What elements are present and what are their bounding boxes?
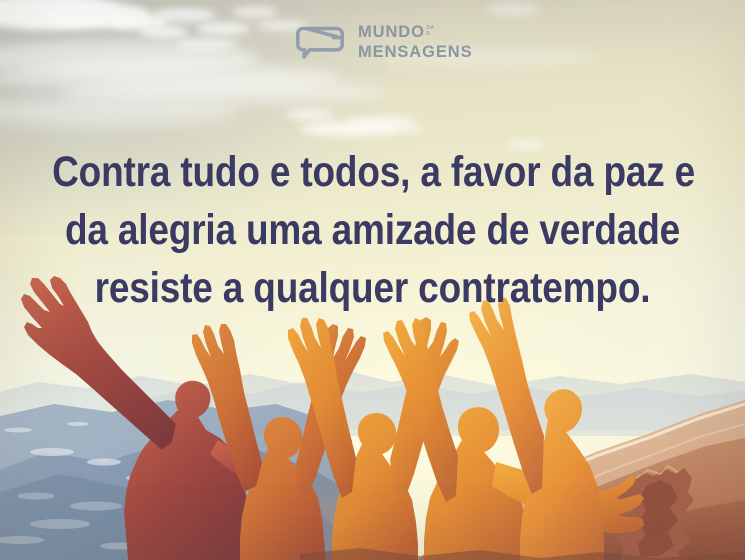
quote-line-3: resiste a qualquer contratempo. <box>52 259 693 317</box>
logo-line-1: MUNDO <box>358 24 425 41</box>
quote-image-card: MUNDO DA S MENSAGENS Contra tudo e todos… <box>0 0 745 560</box>
quote-text: Contra tudo e todos, a favor da paz e da… <box>52 143 693 317</box>
logo-superscript-bottom: S <box>426 32 434 38</box>
brand-logo[interactable]: MUNDO DA S MENSAGENS <box>293 24 473 60</box>
logo-superscript: DA S <box>426 26 434 38</box>
quote-line-1: Contra tudo e todos, a favor da paz e <box>52 143 693 201</box>
quote-line-2: da alegria uma amizade de verdade <box>52 201 693 259</box>
logo-line-2: MENSAGENS <box>358 44 473 61</box>
speech-bubble-icon <box>293 24 347 60</box>
logo-wordmark: MUNDO DA S MENSAGENS <box>358 24 473 60</box>
